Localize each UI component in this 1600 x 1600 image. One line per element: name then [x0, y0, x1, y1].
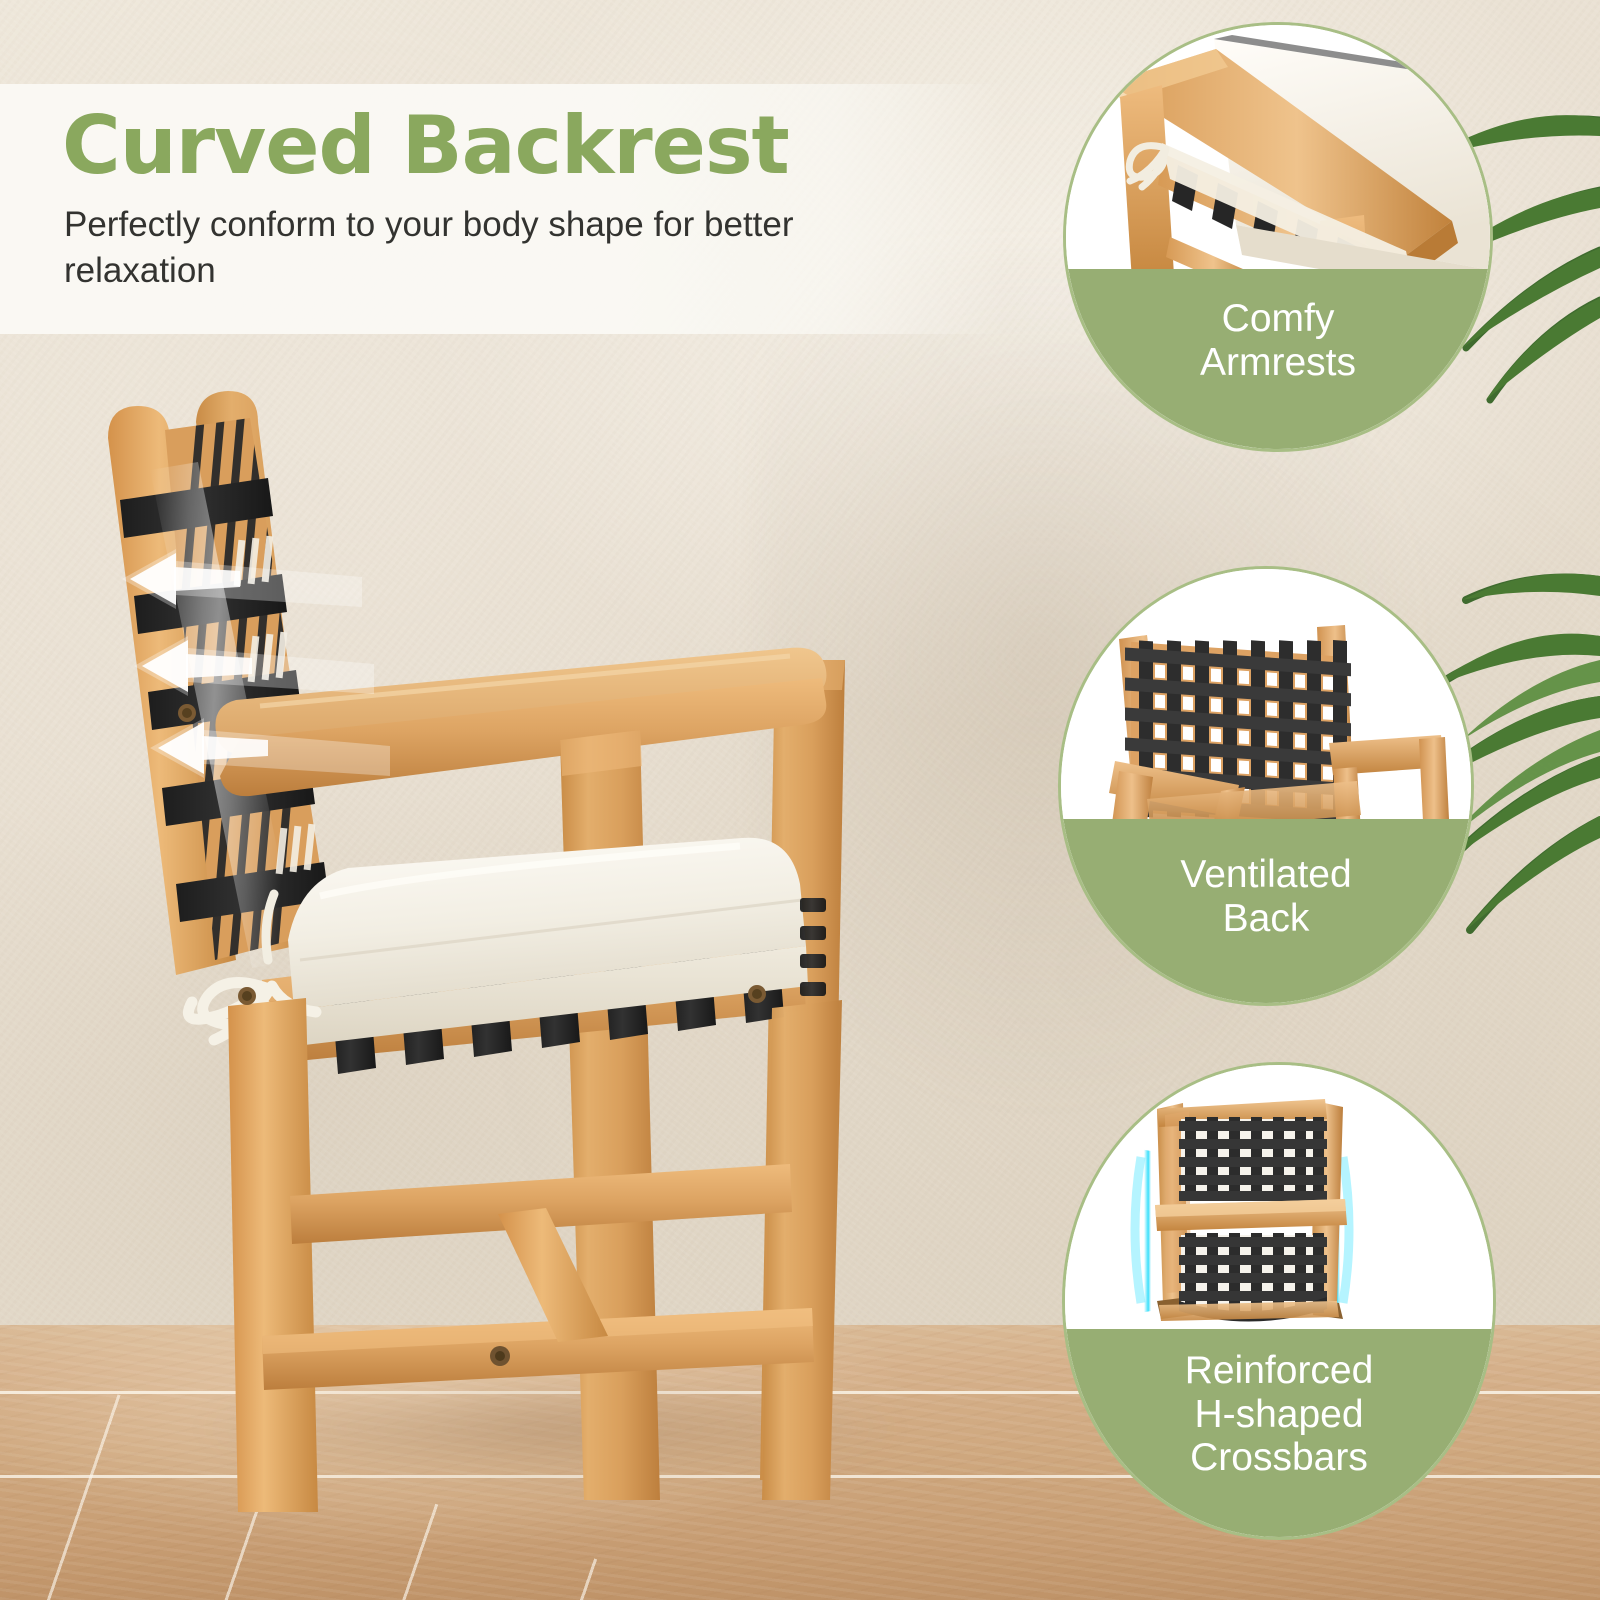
callout-label-line-2: Armrests [1200, 341, 1356, 385]
callout-ventilated-back-label: Ventilated Back [1058, 819, 1474, 1006]
airflow-arrow-3 [54, 712, 394, 822]
callout-ventilated-back[interactable]: Ventilated Back [1058, 566, 1474, 1006]
callout-reinforced-crossbars[interactable]: Reinforced H-shaped Crossbars [1062, 1062, 1496, 1540]
callout-comfy-armrests[interactable]: Comfy Armrests [1063, 22, 1493, 452]
page-title: Curved Backrest [62, 106, 789, 186]
callout-comfy-armrests-label: Comfy Armrests [1063, 269, 1493, 452]
callout-label-line-2: H-shaped [1194, 1393, 1363, 1437]
callout-label-line-3: Crossbars [1190, 1436, 1368, 1480]
callout-label-line-1: Ventilated [1180, 853, 1351, 897]
page-subtitle: Perfectly conform to your body shape for… [64, 202, 884, 294]
callout-label-line-1: Comfy [1222, 297, 1335, 341]
callout-label-line-2: Back [1223, 897, 1310, 941]
callout-label-line-1: Reinforced [1185, 1349, 1374, 1393]
callout-reinforced-crossbars-label: Reinforced H-shaped Crossbars [1062, 1329, 1496, 1540]
infographic-canvas: Curved Backrest Perfectly conform to you… [0, 0, 1600, 1600]
header-banner: Curved Backrest Perfectly conform to you… [0, 84, 1005, 334]
